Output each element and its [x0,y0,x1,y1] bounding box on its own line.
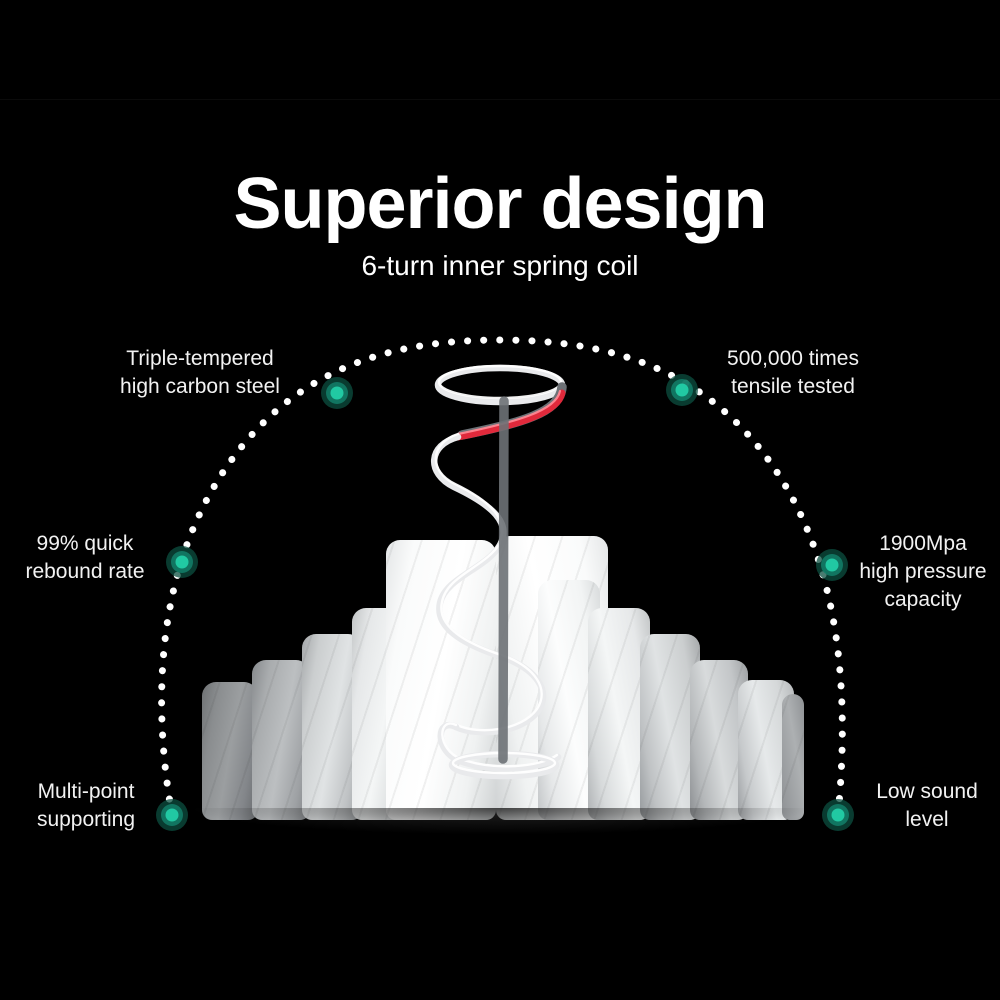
callout-marker-multi-point-supporting[interactable] [156,799,188,831]
callout-label-tensile-tested: 500,000 times tensile tested [698,345,888,401]
callout-label-pressure-capacity: 1900Mpa high pressure capacity [848,530,998,614]
callout-marker-tensile-tested[interactable] [666,374,698,406]
callout-marker-low-sound-level[interactable] [822,799,854,831]
callout-marker-triple-tempered[interactable] [321,377,353,409]
product-feature-graphic: Superior design 6-turn inner spring coil… [0,0,1000,1000]
page-subtitle: 6-turn inner spring coil [0,250,1000,282]
callout-marker-rebound-rate[interactable] [166,546,198,578]
callout-label-low-sound-level: Low sound level [862,778,992,834]
arc-dotted-path [162,340,843,815]
page-title: Superior design [0,168,1000,241]
dotted-arc-connector [0,0,1000,1000]
callout-label-multi-point-supporting: Multi-point supporting [12,778,160,834]
callout-marker-pressure-capacity[interactable] [816,549,848,581]
callout-label-rebound-rate: 99% quick rebound rate [10,530,160,586]
callout-label-triple-tempered: Triple-tempered high carbon steel [95,345,305,401]
